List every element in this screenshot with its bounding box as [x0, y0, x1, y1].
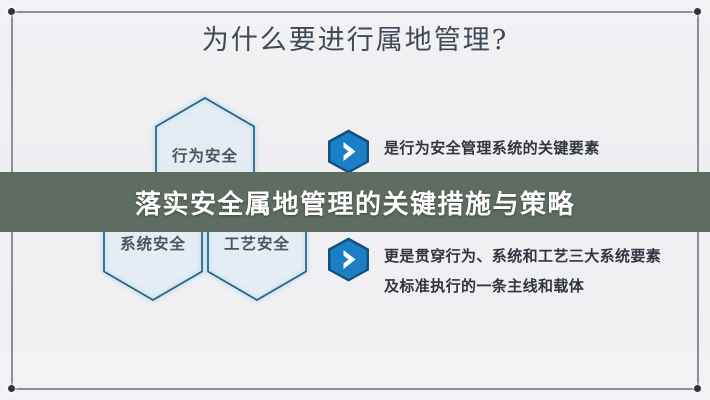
chevron-right-hexagon-icon [325, 128, 372, 175]
frame-line-bottom [11, 388, 699, 390]
slide-heading: 为什么要进行属地管理? [0, 18, 710, 57]
bullet-text-2: 更是贯穿行为、系统和工艺三大系统要素 及标准执行的一条主线和载体 [384, 236, 661, 302]
frame-corner-dot-top-right [694, 8, 701, 15]
hexagon-label-behavior-safety: 行为安全 [153, 144, 257, 166]
bullet-text-2-line-2: 及标准执行的一条主线和载体 [384, 272, 661, 302]
frame-corner-dot-bottom-left [8, 385, 15, 392]
bullet-item-1: 是行为安全管理系统的关键要素 [325, 128, 600, 175]
bullet-text-1-line-1: 是行为安全管理系统的关键要素 [384, 134, 600, 164]
hexagon-label-system-safety: 系统安全 [101, 232, 205, 254]
bullet-text-2-line-1: 更是贯穿行为、系统和工艺三大系统要素 [384, 242, 661, 272]
bullet-item-2: 更是贯穿行为、系统和工艺三大系统要素 及标准执行的一条主线和载体 [325, 236, 661, 302]
frame-line-top [11, 11, 699, 13]
bullet-text-1: 是行为安全管理系统的关键要素 [384, 128, 600, 164]
frame-corner-dot-top-left [8, 8, 15, 15]
slide-canvas: 为什么要进行属地管理? 行为安全 系统安全 工艺安全 [0, 0, 710, 400]
caption-title: 落实安全属地管理的关键措施与策略 [0, 172, 710, 232]
chevron-right-hexagon-icon [325, 236, 372, 283]
frame-corner-dot-bottom-right [694, 385, 701, 392]
hexagon-label-process-safety: 工艺安全 [205, 232, 309, 254]
